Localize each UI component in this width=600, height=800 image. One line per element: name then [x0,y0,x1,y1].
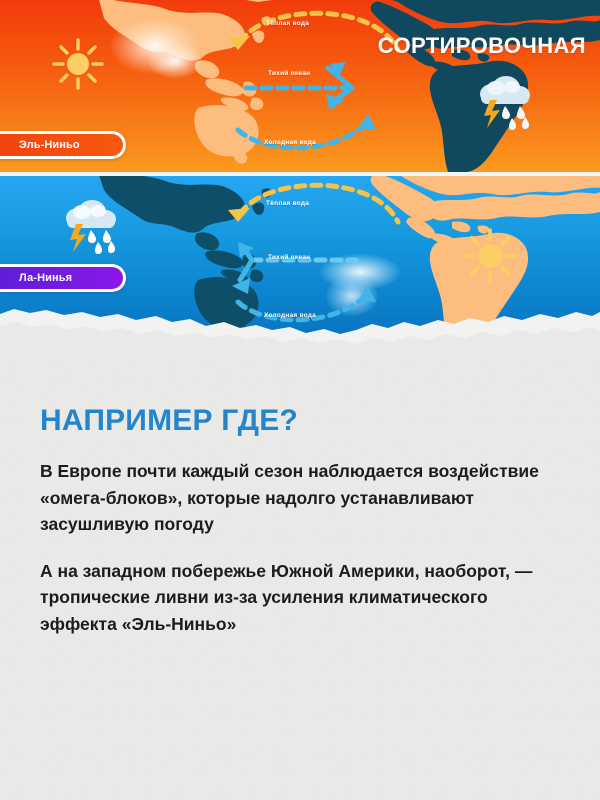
sun-icon [52,38,104,95]
page-title: НАПРИМЕР ГДЕ? [40,406,574,436]
rain-cloud-icon [472,72,534,139]
panel-el-nino: Тёплая вода Тихий океан Холодная вода [0,0,600,172]
article-section: НАПРИМЕР ГДЕ? В Европе почти каждый сезо… [0,336,600,800]
badge-la-nina[interactable]: Ла-Нинья [0,264,126,292]
infographic-page: Тёплая вода Тихий океан Холодная вода [0,0,600,800]
torn-paper-edge [0,300,600,362]
article-content: НАПРИМЕР ГДЕ? В Европе почти каждый сезо… [40,406,574,638]
panel-title-el-nino: СОРТИРОВОЧНАЯ [378,33,586,59]
badge-el-nino[interactable]: Эль-Ниньо [0,131,126,159]
flow-label-warm-water: Тёплая вода [266,20,309,27]
flow-label-pacific-ocean: Тихий океан [268,254,310,261]
flow-label-pacific-ocean: Тихий океан [268,70,310,77]
article-paragraph-2: А на западном побережье Южной Америки, н… [40,558,540,638]
panel-divider [0,172,600,176]
badge-el-nino-label: Эль-Ниньо [0,134,123,156]
article-paragraph-1: В Европе почти каждый сезон наблюдается … [40,458,540,538]
badge-la-nina-label: Ла-Нинья [0,267,123,289]
flow-label-cold-water: Холодная вода [264,139,316,146]
sun-icon [462,228,518,289]
flow-label-warm-water: Тёплая вода [266,200,309,207]
rain-cloud-icon [58,196,120,263]
